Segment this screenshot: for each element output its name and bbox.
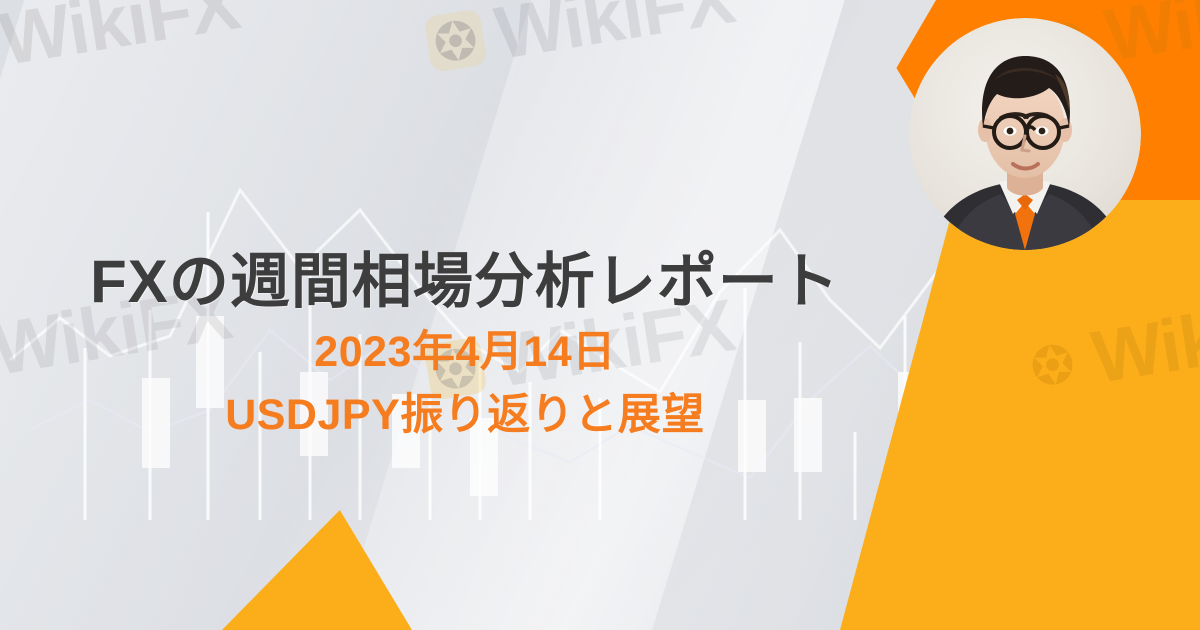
subtitle-date: 2023年4月14日 <box>0 329 930 376</box>
wikifx-report-banner: WikiFX WikiFX <box>0 0 1200 630</box>
wikifx-logo-icon <box>422 8 488 74</box>
presenter-portrait-illustration <box>909 18 1141 250</box>
headline-block: FXの週間相場分析レポート 2023年4月14日 USDJPY振り返りと展望 <box>0 248 930 440</box>
watermark-top-left: WikiFX <box>0 0 244 88</box>
subtitle-topic: USDJPY振り返りと展望 <box>0 392 930 439</box>
page-title: FXの週間相場分析レポート <box>0 248 930 315</box>
bottom-orange-notch <box>222 510 412 630</box>
avatar <box>909 18 1141 250</box>
watermark-top-center: WikiFX <box>421 0 739 82</box>
watermark-label: WikiFX <box>0 0 244 77</box>
watermark-label: WikiFX <box>490 0 739 71</box>
